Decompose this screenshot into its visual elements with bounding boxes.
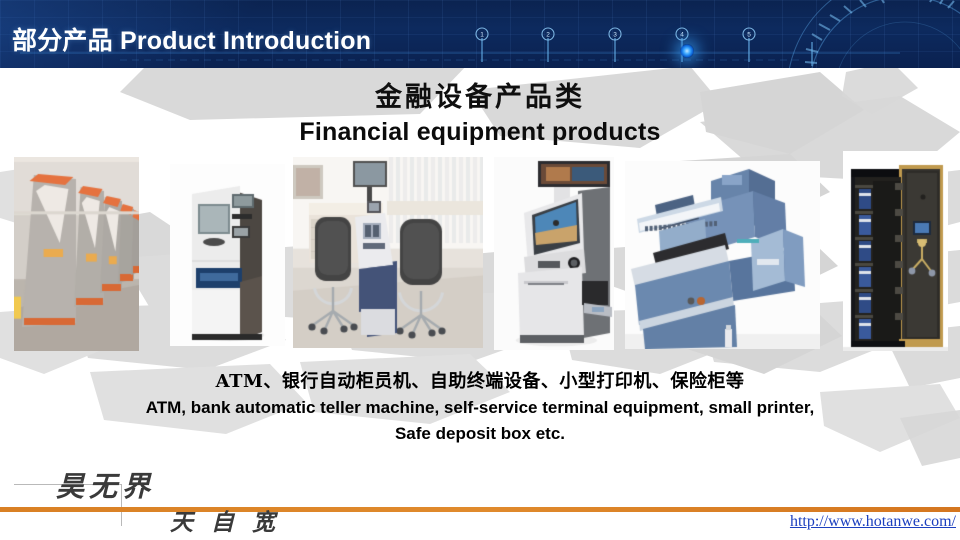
product-image-white-self-service-terminal[interactable] [170, 164, 285, 346]
caption-en-line2: Safe deposit box etc. [0, 422, 960, 445]
slide-canvas: 1 2 3 4 5 部分产品 Product Introduction 金融设备… [0, 0, 960, 540]
product-image-dual-screen-kiosk[interactable] [494, 157, 614, 350]
product-image-orange-kiosk-row[interactable] [14, 157, 139, 351]
product-image-safe-deposit-cabinet[interactable] [843, 151, 948, 351]
page-title: 部分产品 Product Introduction [12, 26, 371, 56]
header-marker-3: 3 [613, 31, 617, 38]
caption-en-line1: ATM, bank automatic teller machine, self… [0, 396, 960, 419]
header-marker-4: 4 [680, 31, 684, 38]
header-marker-2: 2 [546, 31, 550, 38]
header-marker-1: 1 [480, 31, 484, 38]
website-url-link[interactable]: http://www.hotanwe.com/ [790, 511, 956, 532]
section-title-cn: 金融设备产品类 [0, 82, 960, 114]
page-title-en: Product Introduction [120, 27, 371, 55]
product-image-bank-counter-cash-machine[interactable] [293, 157, 483, 348]
product-image-flatbed-uv-printer[interactable] [625, 161, 820, 349]
header-glow-marker [680, 44, 694, 58]
caption-cn: ATM、银行自动柜员机、自助终端设备、小型打印机、保险柜等 [0, 370, 960, 394]
page-title-cn: 部分产品 [12, 26, 113, 55]
company-logo-secondary: 天自宽 [170, 508, 293, 538]
section-title-en: Financial equipment products [0, 117, 960, 147]
header-marker-5: 5 [747, 31, 751, 38]
product-image-strip [0, 150, 960, 355]
slide-header-band: 1 2 3 4 5 部分产品 Product Introduction [0, 0, 960, 68]
company-logo-primary: 昊无界 [56, 470, 155, 504]
